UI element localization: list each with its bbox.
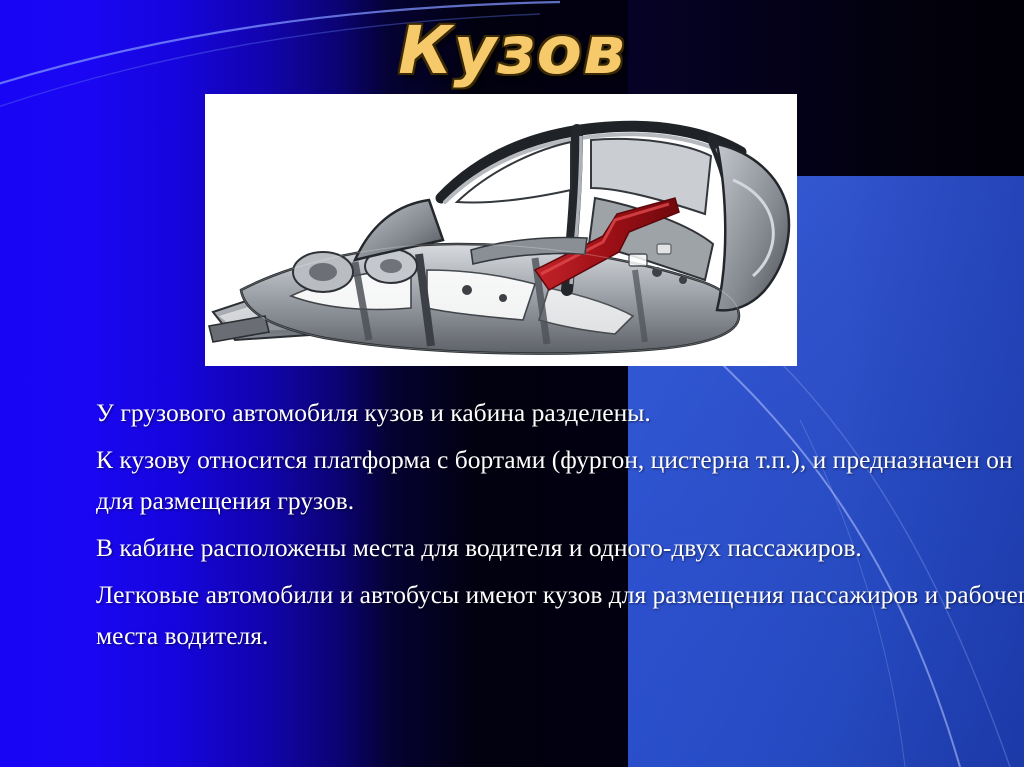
body-paragraph-4: Легковые автомобили и автобусы имеют куз… [96,574,1024,656]
page-title: Кузов [0,12,1024,89]
presentation-slide: Кузов [0,0,1024,767]
body-paragraph-1: У грузового автомобиля кузов и кабина ра… [96,392,1024,433]
body-paragraph-2: К кузову относится платформа с бортами (… [96,439,1024,521]
slide-body-text: У грузового автомобиля кузов и кабина ра… [96,392,1024,662]
body-frame-image [205,94,797,366]
car-unibody-frame-illustration [205,94,797,366]
body-paragraph-3: В кабине расположены места для водителя … [96,527,1024,568]
